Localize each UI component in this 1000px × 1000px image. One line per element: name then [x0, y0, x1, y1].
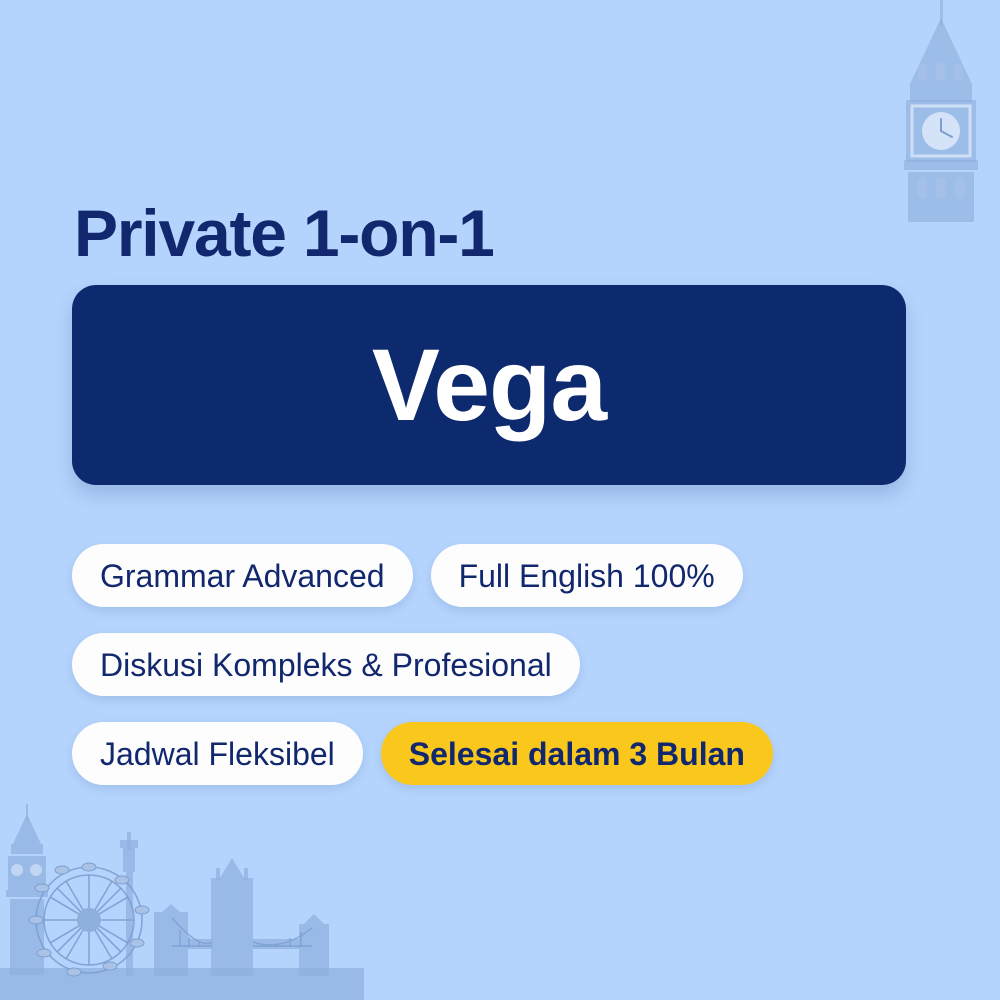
promo-poster: Private 1-on-1 Vega Grammar AdvancedFull…	[0, 0, 1000, 1000]
feature-pill-label: Grammar Advanced	[100, 560, 385, 592]
feature-pill: Selesai dalam 3 Bulan	[381, 722, 773, 785]
feature-pill-label: Diskusi Kompleks & Profesional	[100, 649, 552, 681]
feature-pill: Diskusi Kompleks & Profesional	[72, 633, 580, 696]
feature-pill-list: Grammar AdvancedFull English 100%Diskusi…	[72, 544, 982, 811]
feature-pill-row: Jadwal FleksibelSelesai dalam 3 Bulan	[72, 722, 982, 785]
tutor-name-card: Vega	[72, 285, 906, 485]
feature-pill: Jadwal Fleksibel	[72, 722, 363, 785]
feature-pill-row: Diskusi Kompleks & Profesional	[72, 633, 982, 696]
feature-pill: Full English 100%	[431, 544, 743, 607]
feature-pill-label: Selesai dalam 3 Bulan	[409, 738, 745, 770]
feature-pill-row: Grammar AdvancedFull English 100%	[72, 544, 982, 607]
feature-pill-label: Jadwal Fleksibel	[100, 738, 335, 770]
page-title: Private 1-on-1	[74, 200, 494, 266]
feature-pill-label: Full English 100%	[459, 560, 715, 592]
feature-pill: Grammar Advanced	[72, 544, 413, 607]
tutor-name-label: Vega	[372, 334, 606, 436]
